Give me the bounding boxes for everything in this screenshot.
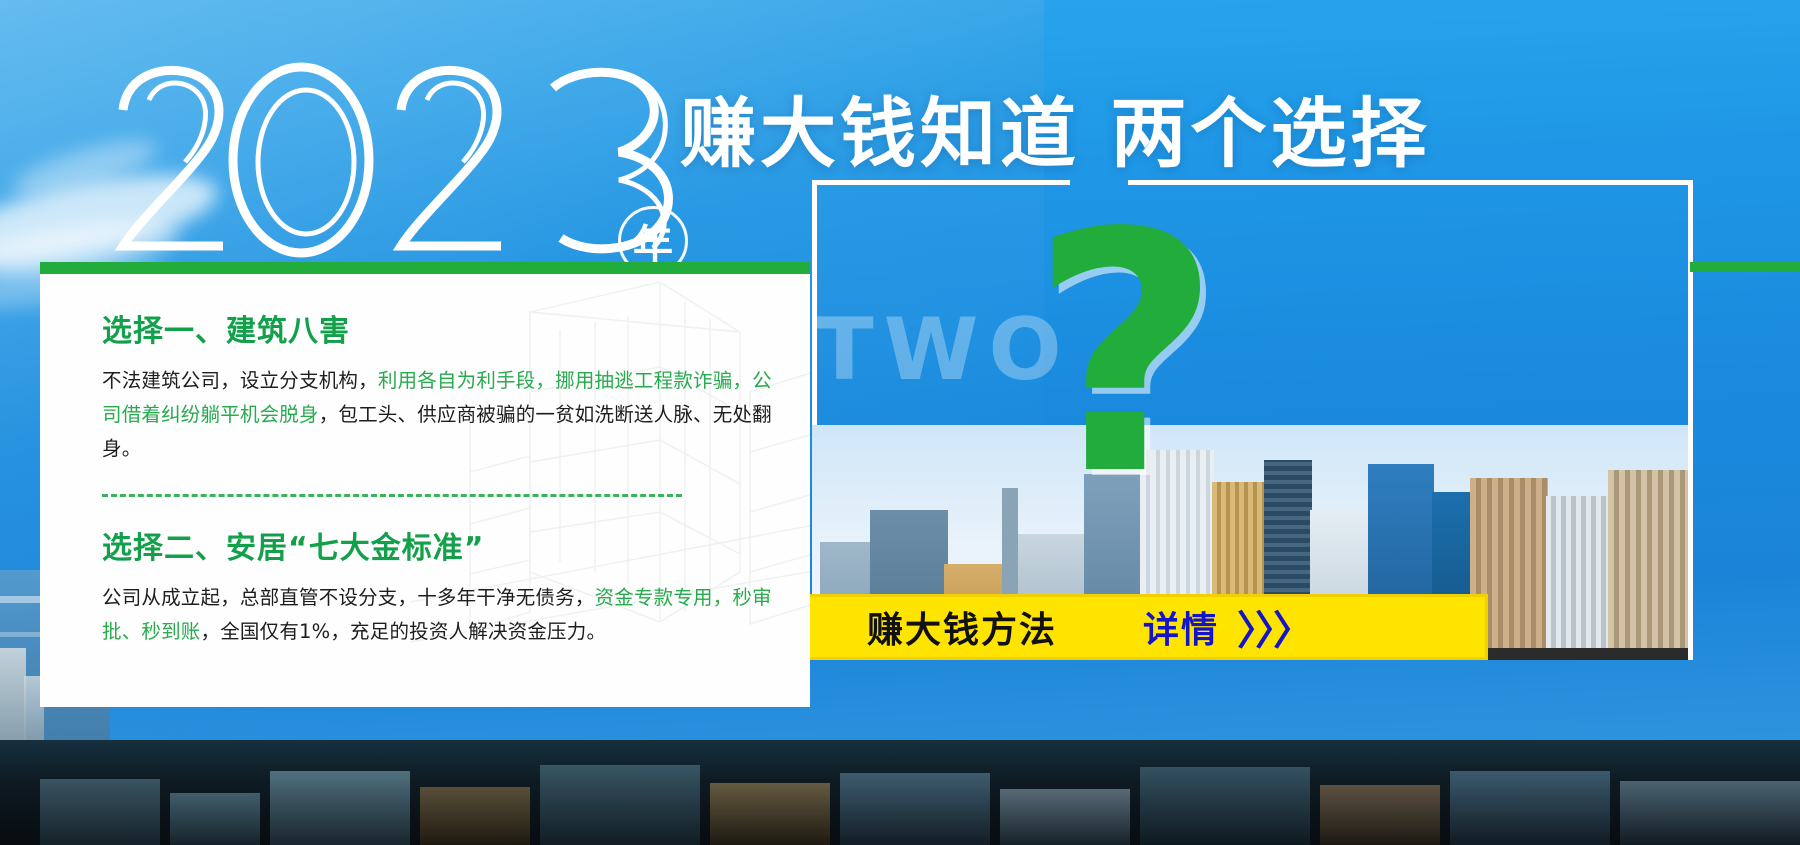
building-reflection	[270, 771, 410, 845]
section-two-text-2: ，全国仅有1%，充足的投资人解决资金压力。	[201, 620, 607, 643]
content-card: 选择一、建筑八害 不法建筑公司，设立分支机构，利用各自为利手段，挪用抽逃工程款诈…	[40, 262, 810, 707]
building-reflection	[1320, 785, 1440, 845]
section-one-title: 选择一、建筑八害	[102, 306, 790, 350]
building-reflection	[540, 765, 700, 845]
section-one-highlight-1: 利用各自为利手段，挪用抽逃工程款	[378, 369, 693, 392]
building-reflection	[420, 787, 530, 845]
building-reflection	[170, 793, 260, 845]
question-mark-icon: ?	[1030, 205, 1221, 505]
section-two-body: 公司从成立起，总部直管不设分支，十多年干净无债务，资金专款专用，秒审批、秒到账，…	[102, 581, 774, 649]
building-reflection	[40, 779, 160, 845]
card-body: 选择一、建筑八害 不法建筑公司，设立分支机构，利用各自为利手段，挪用抽逃工程款诈…	[102, 306, 790, 649]
cta-detail-link[interactable]: 详情	[1143, 601, 1219, 653]
building-reflection	[1000, 789, 1130, 845]
year-graphic: 年	[105, 58, 725, 263]
section-one-body: 不法建筑公司，设立分支机构，利用各自为利手段，挪用抽逃工程款诈骗，公司借着纠纷躺…	[102, 364, 774, 466]
building	[1608, 470, 1688, 660]
cta-label: 赚大钱方法	[867, 601, 1057, 653]
section-two-text-1: 公司从成立起，总部直管不设分支，十多年干净无债务，	[102, 586, 595, 609]
chevron-right-icon: 〉〉〉	[1237, 598, 1311, 656]
section-two-highlight-1: 资金专款专	[595, 586, 694, 609]
building-reflection	[1140, 767, 1310, 845]
building-reflection	[1450, 771, 1610, 845]
building-reflection	[1620, 781, 1800, 845]
poster-canvas: 年 赚大钱知道 两个选择 TWO CHOICES ? 赚大钱方法 详情 〉〉〉	[0, 0, 1800, 845]
building-reflection	[840, 773, 990, 845]
building-reflection	[710, 783, 830, 845]
section-two-title: 选择二、安居“七大金标准”	[102, 523, 790, 567]
building-silhouette	[0, 648, 26, 740]
bottom-city-strip	[0, 740, 1800, 845]
cta-banner[interactable]: 赚大钱方法 详情 〉〉〉	[806, 594, 1488, 660]
section-one-text-1: 不法建筑公司，设立分支机构，	[102, 369, 378, 392]
building	[1546, 496, 1612, 660]
section-divider	[102, 494, 682, 497]
section-one-text-2: ，包工头、供应商被骗的一贫如洗	[319, 403, 615, 426]
green-accent-bar	[1690, 262, 1800, 272]
